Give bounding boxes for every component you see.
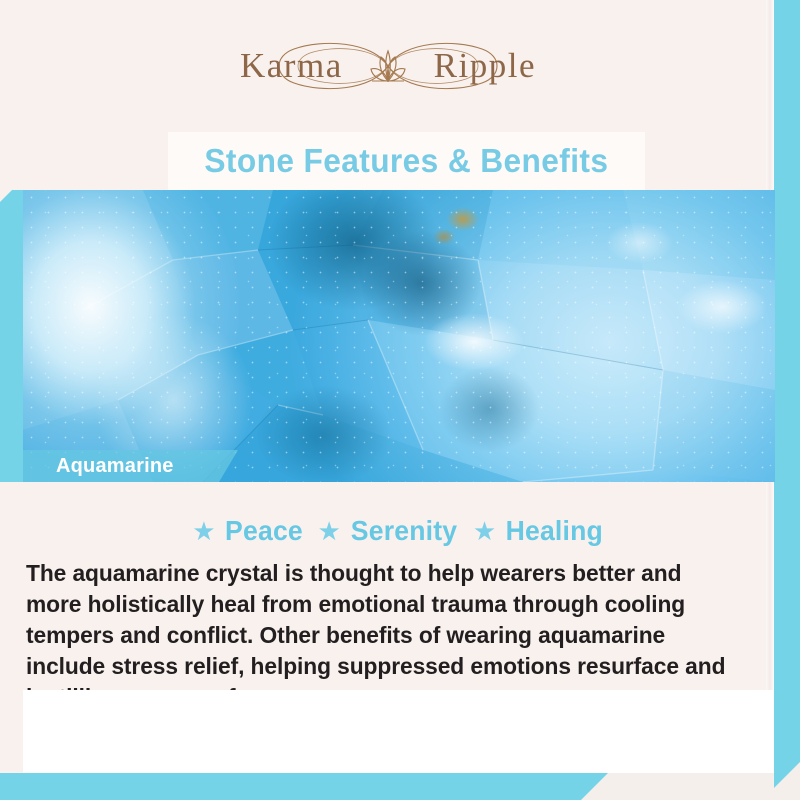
- benefits-row: ★ Peace ★ Serenity ★ Healing: [23, 512, 775, 550]
- brand-word-left: Karma: [222, 46, 343, 86]
- accent-band-right-tip: [774, 762, 800, 788]
- benefit-label: Serenity: [351, 515, 458, 547]
- star-icon: ★: [318, 518, 341, 544]
- stone-name-label: Aquamarine: [23, 455, 174, 478]
- stone-name-tag: Aquamarine: [23, 450, 238, 482]
- lower-white-area: [23, 690, 774, 773]
- benefit-item-peace: ★ Peace: [192, 515, 304, 547]
- stone-photo: [23, 190, 775, 482]
- benefit-label: Healing: [506, 515, 603, 547]
- benefit-item-healing: ★ Healing: [473, 515, 606, 547]
- page-title: Stone Features & Benefits: [205, 142, 609, 180]
- brand-word-right: Ripple: [434, 46, 552, 86]
- benefit-label: Peace: [225, 515, 303, 547]
- poster-frame: Karma Ripple Stone Features & Benefits: [0, 0, 800, 800]
- photo-sparkle-layer: [23, 190, 775, 482]
- brand-wordmark: Karma Ripple: [222, 29, 552, 103]
- accent-band-right: [774, 0, 800, 762]
- brand-logo: Karma Ripple: [222, 29, 552, 103]
- brand-header: Karma Ripple: [0, 0, 774, 132]
- star-icon: ★: [473, 518, 496, 544]
- accent-band-bottom: [0, 773, 608, 800]
- benefit-item-serenity: ★ Serenity: [318, 515, 460, 547]
- accent-band-left: [0, 190, 23, 482]
- title-plate: Stone Features & Benefits: [168, 132, 645, 190]
- star-icon: ★: [192, 518, 215, 544]
